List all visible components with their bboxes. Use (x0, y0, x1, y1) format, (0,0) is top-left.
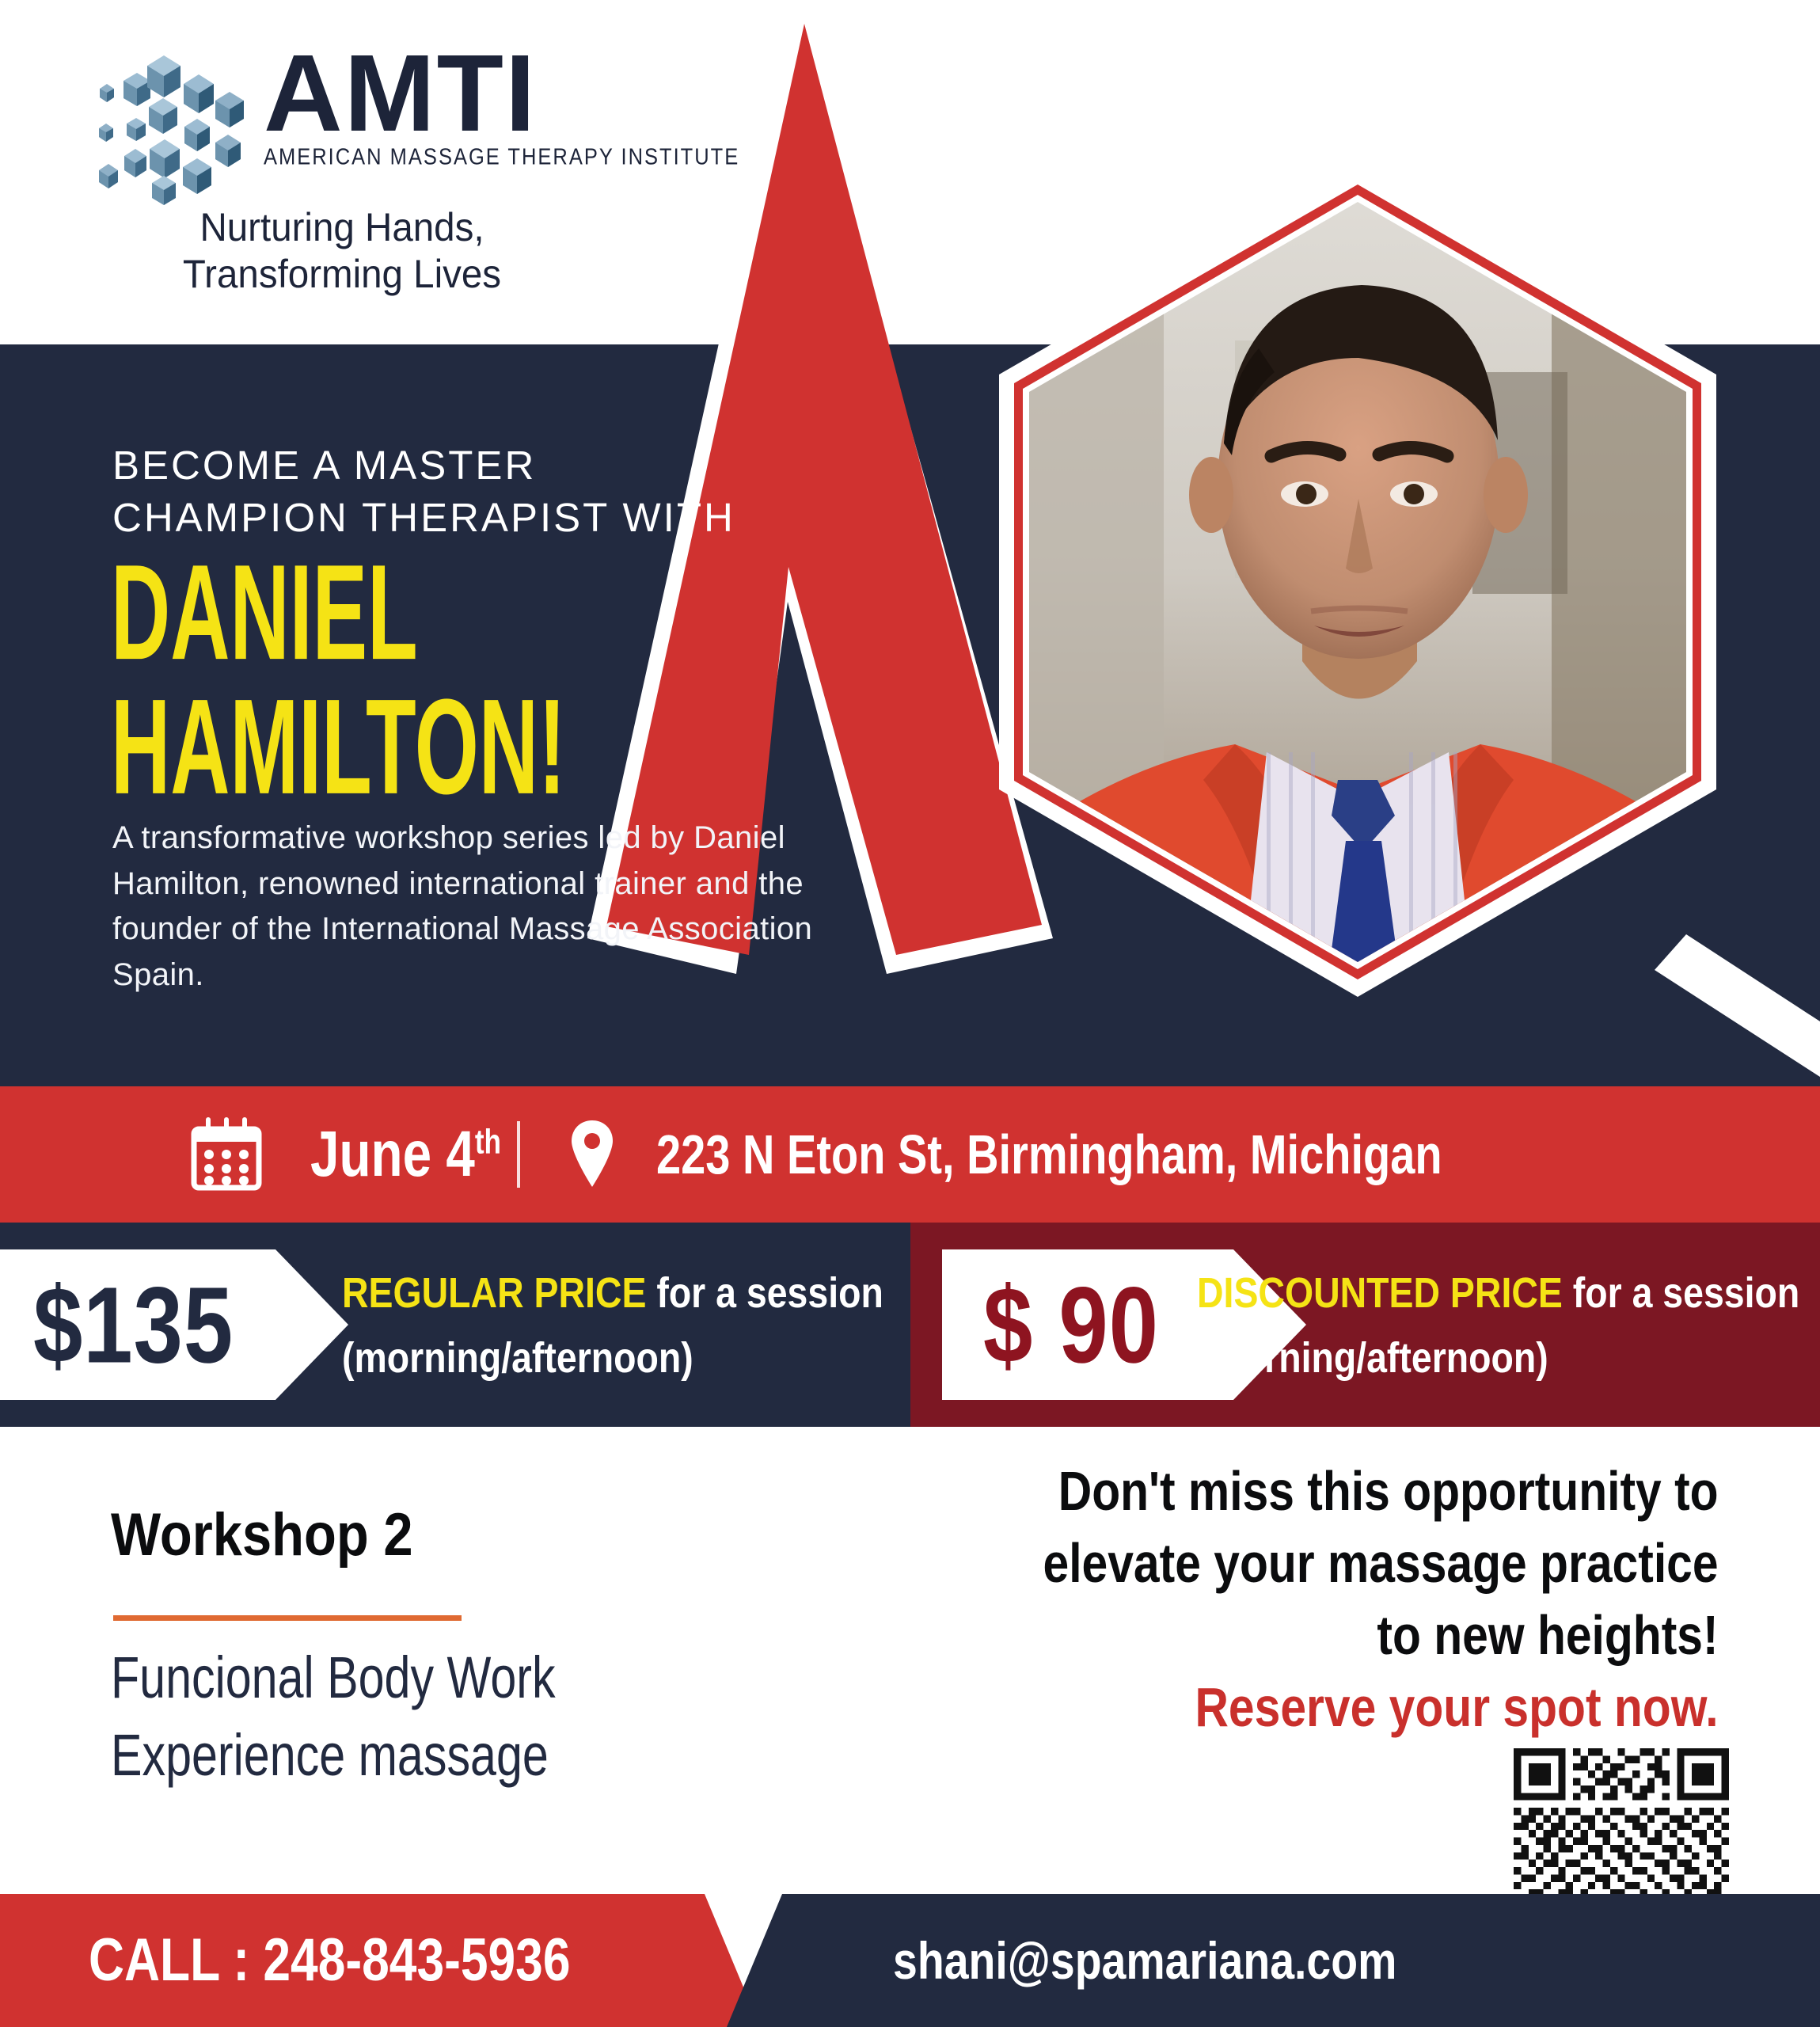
calendar-icon (188, 1116, 264, 1192)
regular-price-label: REGULAR PRICE (342, 1269, 646, 1317)
workshop-subtitle-line-2: Experience massage (111, 1717, 556, 1794)
hero-kicker: BECOME A MASTER CHAMPION THERAPIST WITH (112, 439, 735, 545)
cta-line-2: elevate your massage practice (1043, 1527, 1719, 1599)
tagline-line-2: Transforming Lives (146, 251, 538, 298)
location-pin-icon (569, 1119, 615, 1190)
regular-price-copy: REGULAR PRICE for a session (morning/aft… (342, 1261, 971, 1390)
footer-bar: CALL : 248-843-5936 shani@spamariana.com (0, 1894, 1820, 2027)
cta-reserve: Reserve your spot now. (1043, 1671, 1719, 1744)
regular-price-tag: $135 (0, 1249, 348, 1400)
speaker-first-name: DANIEL (111, 546, 566, 680)
brand-name: AMTI (264, 46, 739, 142)
workshop-title: Workshop 2 (111, 1500, 413, 1569)
event-banner: June 4th 223 N Eton St, Birmingham, Mich… (0, 1086, 1820, 1223)
tagline-line-1: Nurturing Hands, (146, 204, 538, 251)
footer-email[interactable]: shani@spamariana.com (893, 1930, 1396, 1991)
hero-kicker-line-1: BECOME A MASTER (112, 439, 735, 492)
workshop-subtitle-line-1: Funcional Body Work (111, 1639, 556, 1717)
event-date-suffix: th (475, 1123, 501, 1162)
brand-tagline: Nurturing Hands, Transforming Lives (146, 204, 538, 298)
discounted-price-note: (morning/afternoon) (1197, 1325, 1799, 1390)
footer-phone[interactable]: CALL : 248-843-5936 (89, 1926, 571, 1995)
speaker-last-name: HAMILTON! (111, 680, 566, 814)
workshop-divider (113, 1615, 462, 1621)
divider (517, 1121, 520, 1188)
regular-price-amount: $135 (33, 1262, 234, 1386)
discounted-price-copy: DISCOUNTED PRICE for a session (morning/… (1197, 1261, 1820, 1390)
regular-price-label-rest: for a session (646, 1269, 883, 1317)
pricing-section: $135 REGULAR PRICE for a session (mornin… (0, 1223, 1820, 1427)
logo-band: AMTI AMERICAN MASSAGE THERAPY INSTITUTE … (0, 0, 1820, 344)
brand-full-name: AMERICAN MASSAGE THERAPY INSTITUTE (264, 145, 739, 170)
hero-speaker-name: DANIEL HAMILTON! (111, 546, 566, 815)
isometric-cubes-logo-icon (95, 51, 249, 205)
regular-price-note: (morning/afternoon) (342, 1325, 883, 1390)
event-date: June 4th (310, 1117, 501, 1192)
cta-line-1: Don't miss this opportunity to (1043, 1455, 1719, 1527)
hero-kicker-line-2: CHAMPION THERAPIST WITH (112, 492, 735, 544)
hero-description: A transformative workshop series led by … (112, 816, 904, 998)
cta-text: Don't miss this opportunity to elevate y… (1043, 1455, 1719, 1744)
cta-line-3: to new heights! (1043, 1599, 1719, 1671)
workshop-subtitle: Funcional Body Work Experience massage (111, 1639, 556, 1795)
discounted-price-label-rest: for a session (1563, 1269, 1799, 1317)
event-address: 223 N Eton St, Birmingham, Michigan (656, 1123, 1442, 1186)
discounted-price-label: DISCOUNTED PRICE (1197, 1269, 1563, 1317)
event-date-text: June 4 (310, 1118, 475, 1190)
discounted-price-amount: $ 90 (983, 1262, 1159, 1386)
